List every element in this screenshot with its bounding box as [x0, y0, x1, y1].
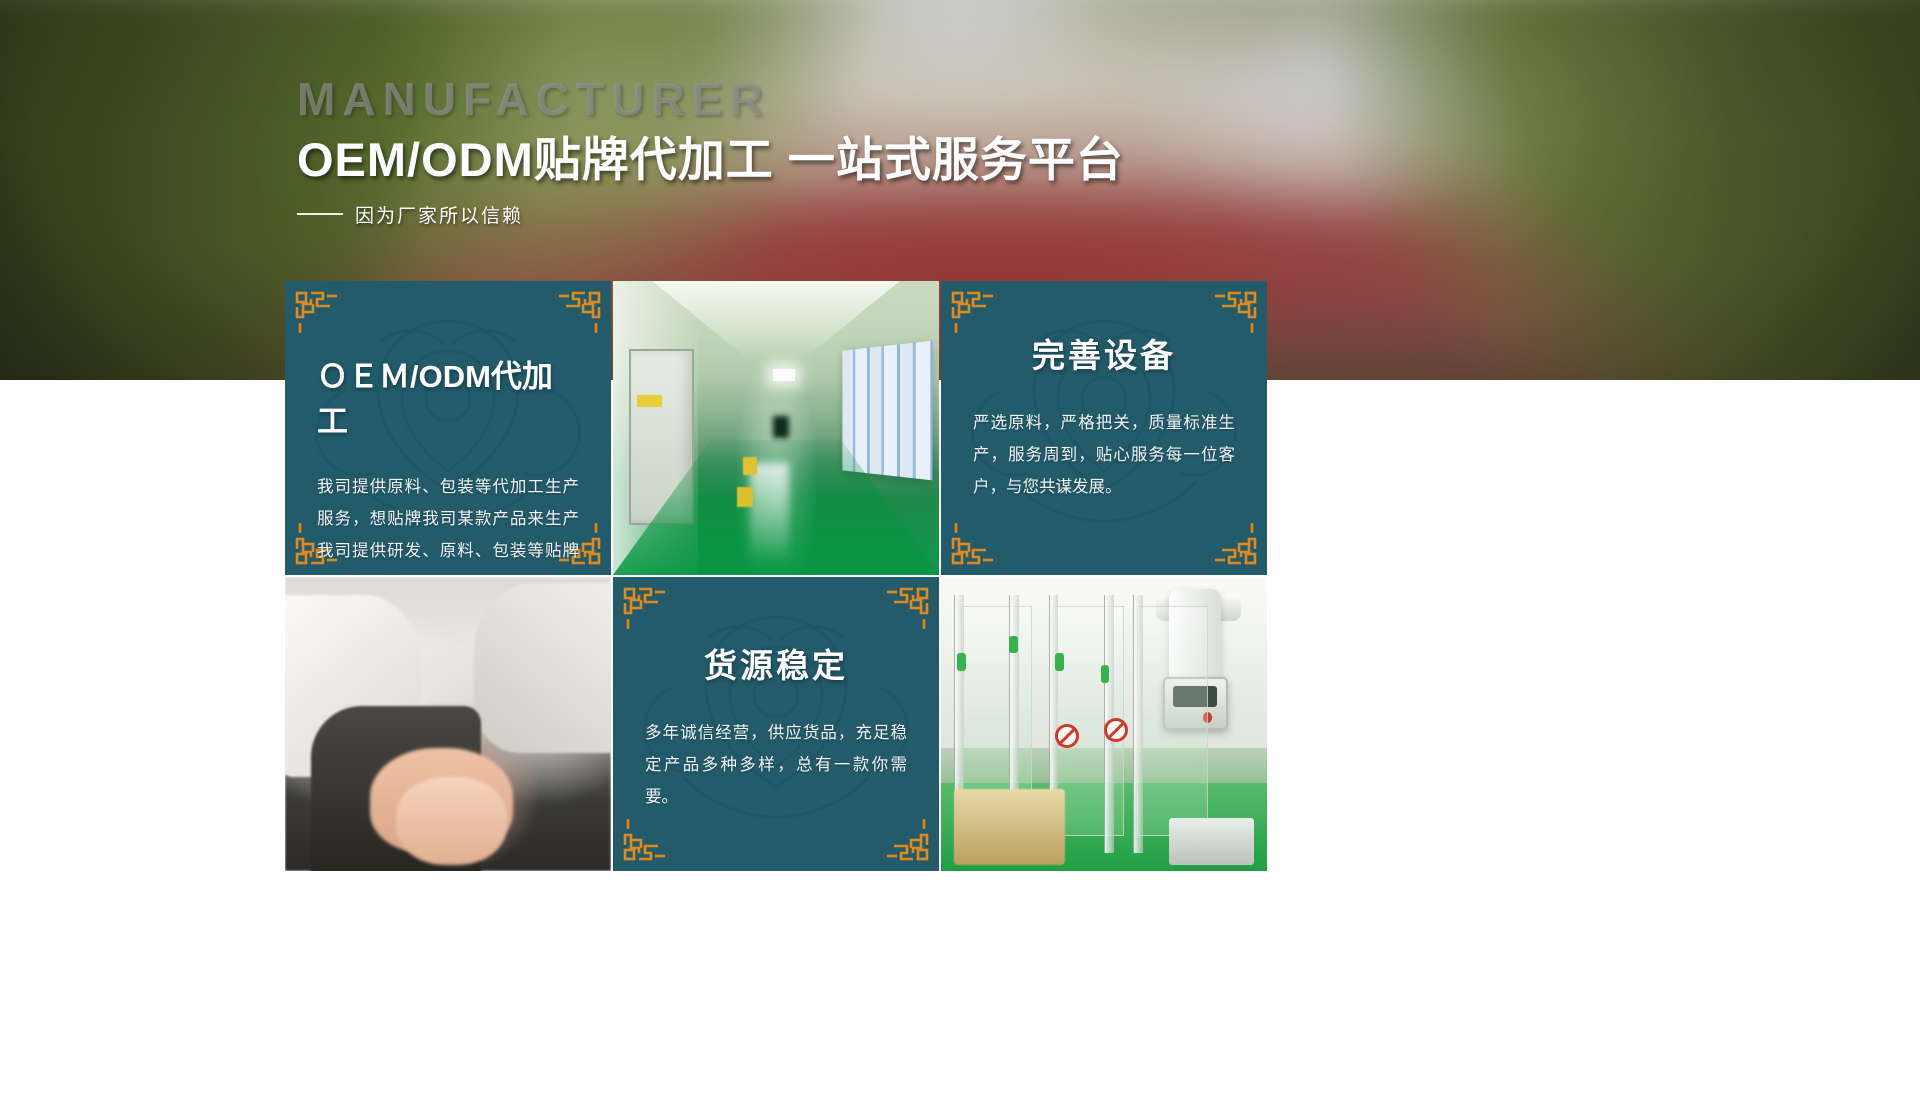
card-content: 货源稳定 多年诚信经营，供应货品，充足稳定产品多种多样，总有一款你需要。	[613, 577, 939, 871]
feature-grid: ＯＥＭ/ODM代加工 我司提供原料、包装等代加工生产服务，想贴牌我司某款产品来生…	[285, 281, 1275, 871]
card-title: ＯＥＭ/ODM代加工	[317, 351, 579, 441]
card-title: 货源稳定	[704, 639, 848, 687]
hero-subline: 因为厂家所以信赖	[297, 201, 1124, 228]
card-body-text: 我司提供原料、包装等代加工生产服务，想贴牌我司某款产品来生产我司提供研发、原料、…	[317, 471, 579, 575]
photo-cell-machinery[interactable]	[941, 577, 1267, 871]
hero-text-block: MANUFACTURER OEM/ODM贴牌代加工 一站式服务平台 因为厂家所以…	[297, 76, 1124, 228]
clean-room-corridor-photo	[613, 281, 939, 575]
horizontal-rule-icon	[297, 213, 343, 215]
card-title: 完善设备	[1032, 329, 1176, 377]
photo-cell-handshake[interactable]	[285, 577, 611, 871]
photo-cell-corridor[interactable]	[613, 281, 939, 575]
feature-card-oem[interactable]: ＯＥＭ/ODM代加工 我司提供原料、包装等代加工生产服务，想贴牌我司某款产品来生…	[285, 281, 611, 575]
production-line-machinery-photo	[941, 577, 1267, 871]
card-body-text: 严选原料，严格把关，质量标准生产，服务周到，贴心服务每一位客户，与您共谋发展。	[973, 407, 1235, 504]
hero-kicker: MANUFACTURER	[297, 76, 1124, 122]
card-content: 完善设备 严选原料，严格把关，质量标准生产，服务周到，贴心服务每一位客户，与您共…	[941, 281, 1267, 575]
hero-headline: OEM/ODM贴牌代加工 一站式服务平台	[297, 134, 1124, 187]
feature-card-supply[interactable]: 货源稳定 多年诚信经营，供应货品，充足稳定产品多种多样，总有一款你需要。	[613, 577, 939, 871]
hero-subline-text: 因为厂家所以信赖	[355, 201, 523, 228]
team-handshake-photo	[285, 577, 611, 871]
card-content: ＯＥＭ/ODM代加工 我司提供原料、包装等代加工生产服务，想贴牌我司某款产品来生…	[285, 281, 611, 575]
card-body-text: 多年诚信经营，供应货品，充足稳定产品多种多样，总有一款你需要。	[645, 717, 907, 814]
feature-card-equipment[interactable]: 完善设备 严选原料，严格把关，质量标准生产，服务周到，贴心服务每一位客户，与您共…	[941, 281, 1267, 575]
